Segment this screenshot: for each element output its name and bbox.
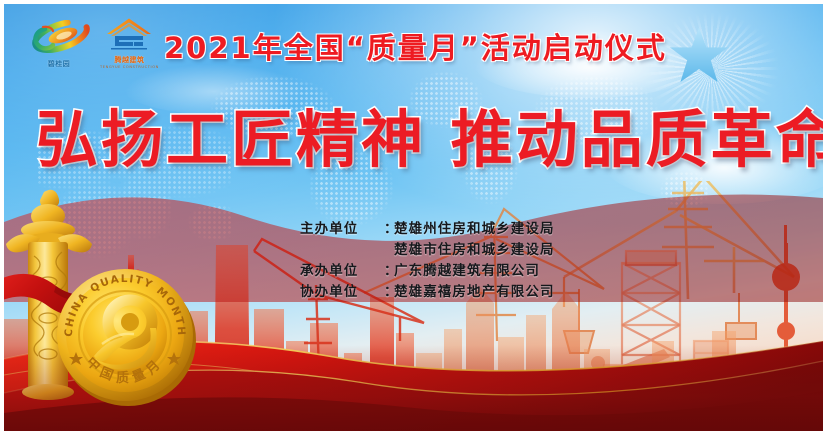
page-title: 2021年全国“质量月”活动启动仪式 [164, 25, 667, 67]
organizer-row: 承办单位 ： 广东腾越建筑有限公司 [300, 261, 555, 282]
organizer-row: 主办单位 ： 楚雄州住房和城乡建设局 [300, 219, 555, 240]
organizer-value: 楚雄州住房和城乡建设局 [394, 219, 555, 240]
organizer-value: 楚雄嘉禧房地产有限公司 [394, 282, 555, 303]
organizer-colon: ： [384, 261, 394, 282]
slogan-text: 弘扬工匠精神 推动品质革命 [36, 109, 796, 171]
organizer-colon: ： [384, 282, 394, 303]
organizer-row: 主办单位 ： 楚雄市住房和城乡建设局 [300, 240, 555, 261]
china-quality-month-medal: CHINA QUALITY MONTH 中国质量月 [50, 260, 200, 410]
organizer-block: 主办单位 ： 楚雄州住房和城乡建设局 主办单位 ： 楚雄市住房和城乡建设局 承办… [300, 219, 555, 303]
country-garden-logo: 碧桂园 [28, 20, 90, 69]
tengyue-construction-logo: 腾越建筑 TENGYUE CONSTRUCTION [100, 16, 159, 69]
organizer-colon: ： [384, 219, 394, 240]
star-icon [668, 26, 730, 86]
organizer-value: 广东腾越建筑有限公司 [394, 261, 540, 282]
organizer-row: 协办单位 ： 楚雄嘉禧房地产有限公司 [300, 282, 555, 303]
organizer-label: 承办单位 [300, 261, 384, 282]
tengyue-house-mark-icon [105, 16, 153, 54]
country-garden-mark-icon [28, 20, 90, 58]
logo-group: 碧桂园 [28, 16, 159, 69]
country-garden-caption: 碧桂园 [48, 59, 71, 69]
tengyue-caption: 腾越建筑 [114, 55, 144, 65]
poster-canvas: 碧桂园 [4, 4, 823, 431]
organizer-label: 主办单位 [300, 219, 384, 240]
poster-banner: 碧桂园 [0, 0, 831, 435]
tengyue-latin-caption: TENGYUE CONSTRUCTION [100, 65, 159, 69]
organizer-value: 楚雄市住房和城乡建设局 [394, 240, 555, 261]
organizer-label: 协办单位 [300, 282, 384, 303]
